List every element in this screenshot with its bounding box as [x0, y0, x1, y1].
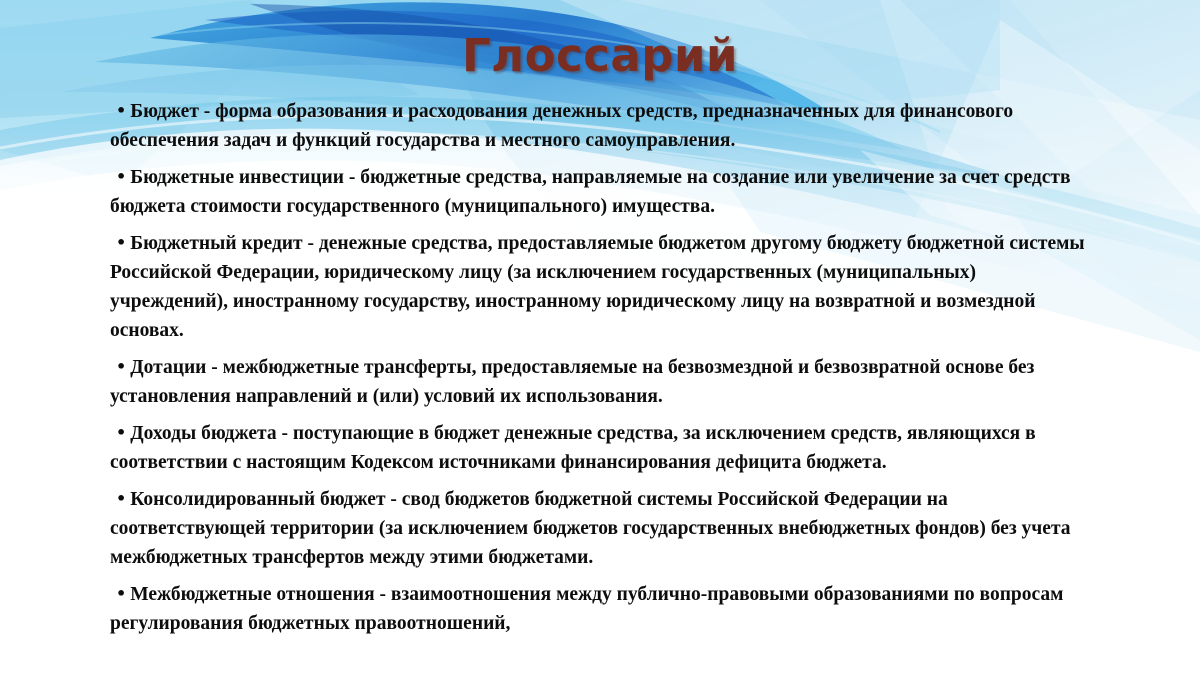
slide-title: Глоссарий — [0, 32, 1200, 79]
glossary-item: •Консолидированный бюджет - свод бюджето… — [110, 484, 1090, 572]
glossary-item: •Межбюджетные отношения - взаимоотношени… — [110, 579, 1090, 638]
glossary-item: •Доходы бюджета - поступающие в бюджет д… — [110, 418, 1090, 477]
glossary-item-text: Консолидированный бюджет - свод бюджетов… — [110, 489, 1071, 568]
bullet-icon: • — [116, 233, 130, 252]
glossary-item-text: Бюджет - форма образования и расходовани… — [110, 101, 1013, 151]
bullet-icon: • — [116, 167, 130, 186]
glossary-item: •Дотации - межбюджетные трансферты, пред… — [110, 352, 1090, 411]
glossary-item-text: Бюджетный кредит - денежные средства, пр… — [110, 233, 1085, 341]
glossary-item-text: Дотации - межбюджетные трансферты, предо… — [110, 357, 1034, 407]
glossary-item: •Бюджетные инвестиции - бюджетные средст… — [110, 162, 1090, 221]
bullet-icon: • — [116, 357, 130, 376]
glossary-item: •Бюджетный кредит - денежные средства, п… — [110, 228, 1090, 345]
bullet-icon: • — [116, 489, 130, 508]
bullet-icon: • — [116, 584, 130, 603]
glossary-item: •Бюджет - форма образования и расходован… — [110, 96, 1090, 155]
presentation-slide: Глоссарий •Бюджет - форма образования и … — [0, 0, 1200, 675]
glossary-body: •Бюджет - форма образования и расходован… — [110, 96, 1090, 645]
bullet-icon: • — [116, 101, 130, 120]
glossary-item-text: Межбюджетные отношения - взаимоотношения… — [110, 584, 1063, 634]
bullet-icon: • — [116, 423, 130, 442]
glossary-item-text: Бюджетные инвестиции - бюджетные средств… — [110, 167, 1071, 217]
glossary-item-text: Доходы бюджета - поступающие в бюджет де… — [110, 423, 1036, 473]
